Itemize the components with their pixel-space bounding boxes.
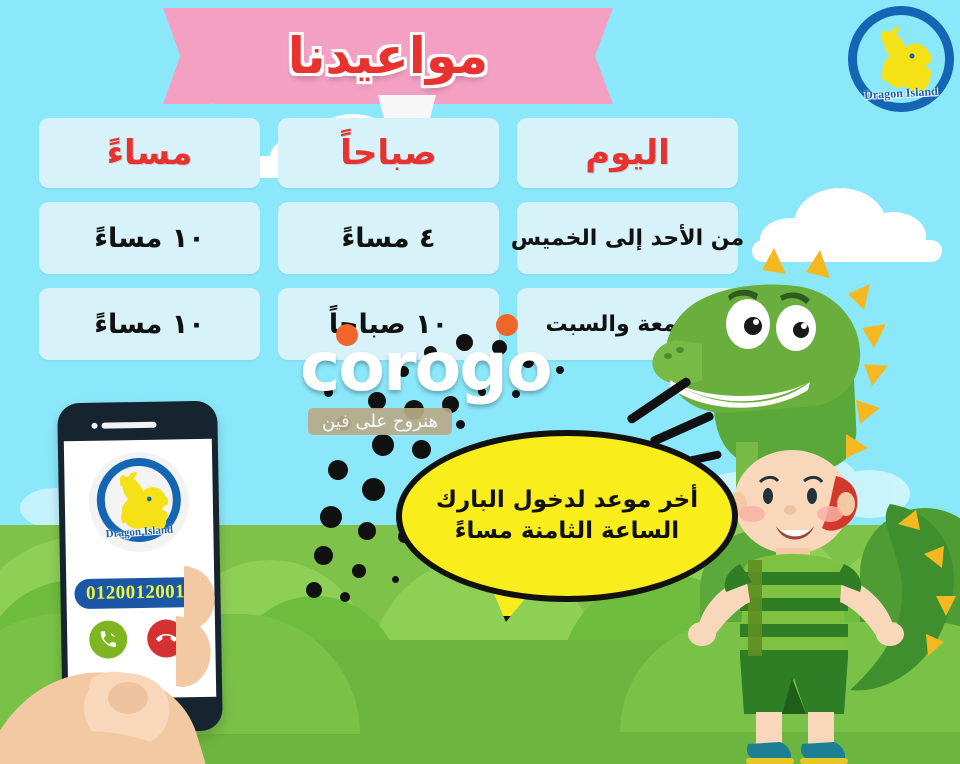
phone-speaker: [101, 422, 156, 429]
cell-evening-text: ١٠ مساءً: [94, 309, 205, 340]
speech-bubble: أخر موعد لدخول البارك الساعة الثامنة مسا…: [396, 430, 738, 602]
phone-camera-icon: [91, 423, 97, 429]
cell-morning-text: ٤ مساءً: [341, 223, 435, 254]
table-header-row: اليوم صباحاً مساءً: [38, 118, 738, 188]
cell-evening-text: ١٠ مساءً: [94, 223, 205, 254]
banner-title: مواعيدنا: [163, 8, 613, 104]
thumb-overlay: [56, 640, 276, 764]
table-row: من الأحد إلى الخميس ٤ مساءً ١٠ مساءً: [38, 202, 738, 274]
cell-evening-1: ١٠ مساءً: [39, 288, 260, 360]
header-day-label: اليوم: [585, 133, 670, 173]
notice-line-2: الساعة الثامنة مساءً: [455, 516, 679, 547]
header-cell-morning: صباحاً: [278, 118, 499, 188]
cell-morning-0: ٤ مساءً: [278, 202, 499, 274]
dragon-island-logo: Dragon Island: [848, 6, 954, 112]
header-cell-day: اليوم: [517, 118, 738, 188]
header-cell-evening: مساءً: [39, 118, 260, 188]
poster-canvas: مواعيدنا Dragon Island اليوم صباحاً مساء…: [0, 0, 960, 764]
cell-evening-0: ١٠ مساءً: [39, 202, 260, 274]
notice-line-1: أخر موعد لدخول البارك: [436, 485, 698, 516]
header-morning-label: صباحاً: [340, 133, 437, 173]
header-evening-label: مساءً: [107, 133, 193, 173]
